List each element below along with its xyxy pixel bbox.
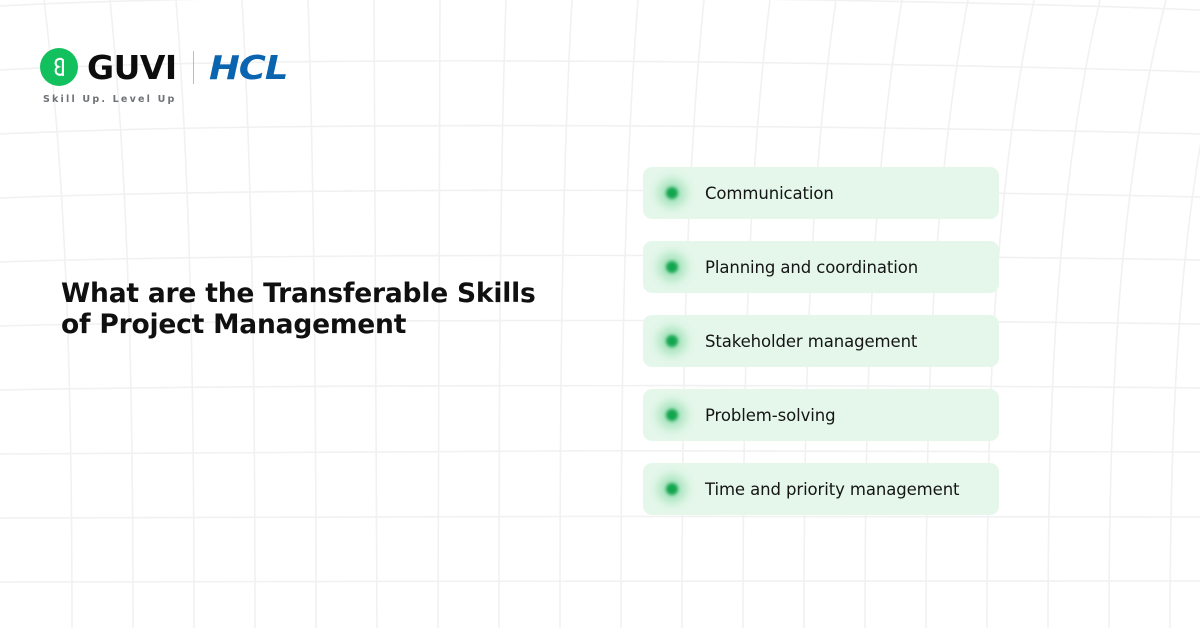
page-title: What are the Transferable Skills of Proj…: [61, 278, 581, 340]
skill-label: Problem-solving: [705, 406, 835, 425]
skill-item: Planning and coordination: [643, 241, 999, 293]
guvi-wordmark: GUVI: [87, 51, 177, 84]
green-dot-icon: [663, 480, 681, 498]
green-dot-icon: [663, 332, 681, 350]
brand-tagline: Skill Up. Level Up: [43, 94, 176, 105]
skill-item: Time and priority management: [643, 463, 999, 515]
skill-label: Planning and coordination: [705, 258, 918, 277]
green-dot-icon: [663, 184, 681, 202]
brand-divider: [193, 51, 194, 84]
skills-list: Communication Planning and coordination …: [643, 167, 999, 515]
skill-label: Stakeholder management: [705, 332, 917, 351]
infographic-canvas: GUVI HCL Skill Up. Level Up What are the…: [0, 0, 1200, 628]
skill-label: Communication: [705, 184, 834, 203]
brand-lockup: GUVI HCL Skill Up. Level Up: [40, 47, 279, 105]
skill-label: Time and priority management: [705, 480, 959, 499]
hcl-wordmark: HCL: [209, 51, 287, 84]
skill-item: Problem-solving: [643, 389, 999, 441]
green-dot-icon: [663, 406, 681, 424]
green-dot-icon: [663, 258, 681, 276]
brand-logos-row: GUVI HCL: [40, 47, 279, 87]
skill-item: Stakeholder management: [643, 315, 999, 367]
guvi-g-mark-icon: [40, 48, 78, 86]
skill-item: Communication: [643, 167, 999, 219]
